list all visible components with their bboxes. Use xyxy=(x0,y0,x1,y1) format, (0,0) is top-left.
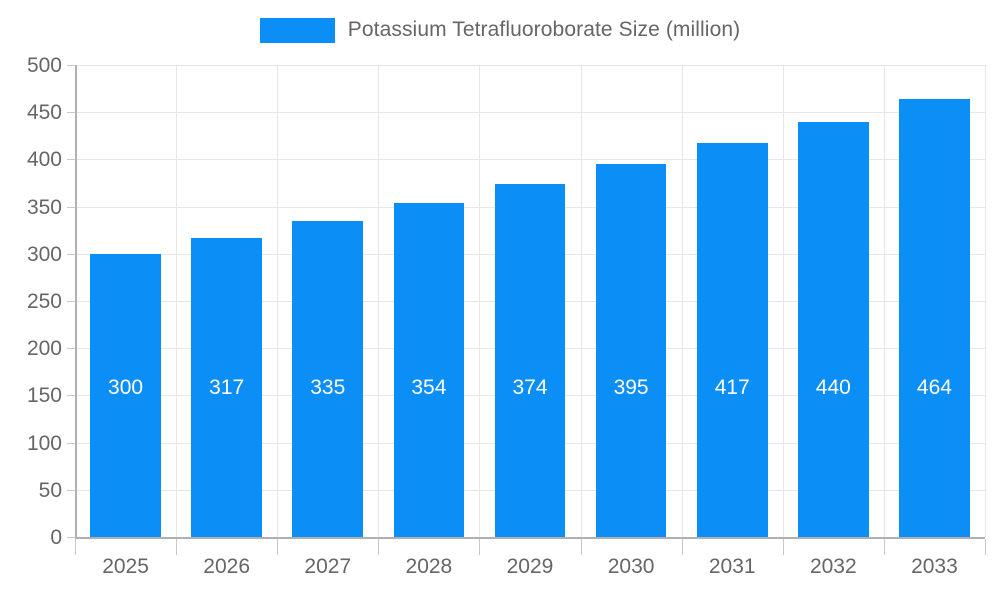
x-axis-tick-mark xyxy=(176,539,177,555)
legend-swatch-icon xyxy=(260,18,335,43)
bar-value-label: 354 xyxy=(394,377,465,398)
legend-item-potassium-tetrafluoroborate-size[interactable]: Potassium Tetrafluoroborate Size (millio… xyxy=(260,18,740,43)
bar[interactable]: 464 xyxy=(899,99,970,537)
y-axis-tick-mark xyxy=(67,65,75,66)
y-axis-tick-mark xyxy=(67,301,75,302)
bar[interactable]: 440 xyxy=(798,122,869,537)
bar-value-label: 417 xyxy=(697,377,768,398)
x-axis-tick-mark xyxy=(479,539,480,555)
bar[interactable]: 335 xyxy=(292,221,363,537)
y-axis-tick-mark xyxy=(67,395,75,396)
y-axis-tick-mark xyxy=(67,112,75,113)
y-axis-tick-label: 350 xyxy=(0,197,62,218)
bar[interactable]: 417 xyxy=(697,143,768,537)
y-axis-tick-mark xyxy=(67,159,75,160)
y-axis-tick-label: 300 xyxy=(0,244,62,265)
bar-value-label: 374 xyxy=(495,377,566,398)
bar-chart: Potassium Tetrafluoroborate Size (millio… xyxy=(0,0,1000,600)
x-axis-tick-label: 2027 xyxy=(277,556,378,577)
bar-value-label: 395 xyxy=(596,377,667,398)
gridline-vertical xyxy=(985,65,986,537)
bar[interactable]: 317 xyxy=(191,238,262,537)
y-axis-tick-mark xyxy=(67,537,75,538)
x-axis-tick-label: 2032 xyxy=(783,556,884,577)
gridline-vertical xyxy=(176,65,177,537)
x-axis-tick-label: 2025 xyxy=(75,556,176,577)
y-axis-tick-label: 50 xyxy=(0,480,62,501)
x-axis-tick-mark xyxy=(581,539,582,555)
y-axis-tick-label: 200 xyxy=(0,338,62,359)
gridline-vertical xyxy=(581,65,582,537)
y-axis-tick-label: 400 xyxy=(0,149,62,170)
gridline-vertical xyxy=(682,65,683,537)
bar[interactable]: 300 xyxy=(90,254,161,537)
bar-value-label: 300 xyxy=(90,377,161,398)
gridline-horizontal xyxy=(75,112,985,113)
bar-value-label: 317 xyxy=(191,377,262,398)
x-axis-line xyxy=(75,537,985,539)
legend-item-label: Potassium Tetrafluoroborate Size (millio… xyxy=(348,18,740,42)
gridline-vertical xyxy=(783,65,784,537)
y-axis-tick-label: 0 xyxy=(0,527,62,548)
x-axis-tick-mark xyxy=(985,539,986,555)
y-axis-tick-mark xyxy=(67,207,75,208)
gridline-vertical xyxy=(884,65,885,537)
bar-value-label: 440 xyxy=(798,377,869,398)
y-axis-tick-mark xyxy=(67,490,75,491)
y-axis-tick-label: 150 xyxy=(0,385,62,406)
x-axis-tick-mark xyxy=(277,539,278,555)
y-axis-tick-mark xyxy=(67,443,75,444)
bar[interactable]: 354 xyxy=(394,203,465,537)
x-axis-tick-label: 2028 xyxy=(378,556,479,577)
x-axis-tick-mark xyxy=(884,539,885,555)
x-axis-tick-mark xyxy=(378,539,379,555)
x-axis-tick-mark xyxy=(682,539,683,555)
x-axis-tick-label: 2026 xyxy=(176,556,277,577)
y-axis-line xyxy=(75,65,77,538)
x-axis-tick-label: 2029 xyxy=(479,556,580,577)
x-axis-tick-label: 2030 xyxy=(581,556,682,577)
y-axis-tick-label: 450 xyxy=(0,102,62,123)
gridline-horizontal xyxy=(75,65,985,66)
y-axis-tick-mark xyxy=(67,254,75,255)
x-axis-tick-mark xyxy=(783,539,784,555)
chart-legend: Potassium Tetrafluoroborate Size (millio… xyxy=(0,10,1000,50)
x-axis-tick-mark xyxy=(75,539,76,555)
gridline-vertical xyxy=(479,65,480,537)
gridline-vertical xyxy=(378,65,379,537)
bar[interactable]: 374 xyxy=(495,184,566,537)
y-axis-tick-mark xyxy=(67,348,75,349)
x-axis-tick-label: 2031 xyxy=(682,556,783,577)
gridline-vertical xyxy=(277,65,278,537)
bar-value-label: 335 xyxy=(292,377,363,398)
y-axis-tick-label: 500 xyxy=(0,55,62,76)
y-axis-tick-label: 100 xyxy=(0,433,62,454)
y-axis-tick-label: 250 xyxy=(0,291,62,312)
bar[interactable]: 395 xyxy=(596,164,667,537)
x-axis-tick-label: 2033 xyxy=(884,556,985,577)
bar-value-label: 464 xyxy=(899,377,970,398)
plot-area: 300317335354374395417440464 xyxy=(75,65,985,537)
